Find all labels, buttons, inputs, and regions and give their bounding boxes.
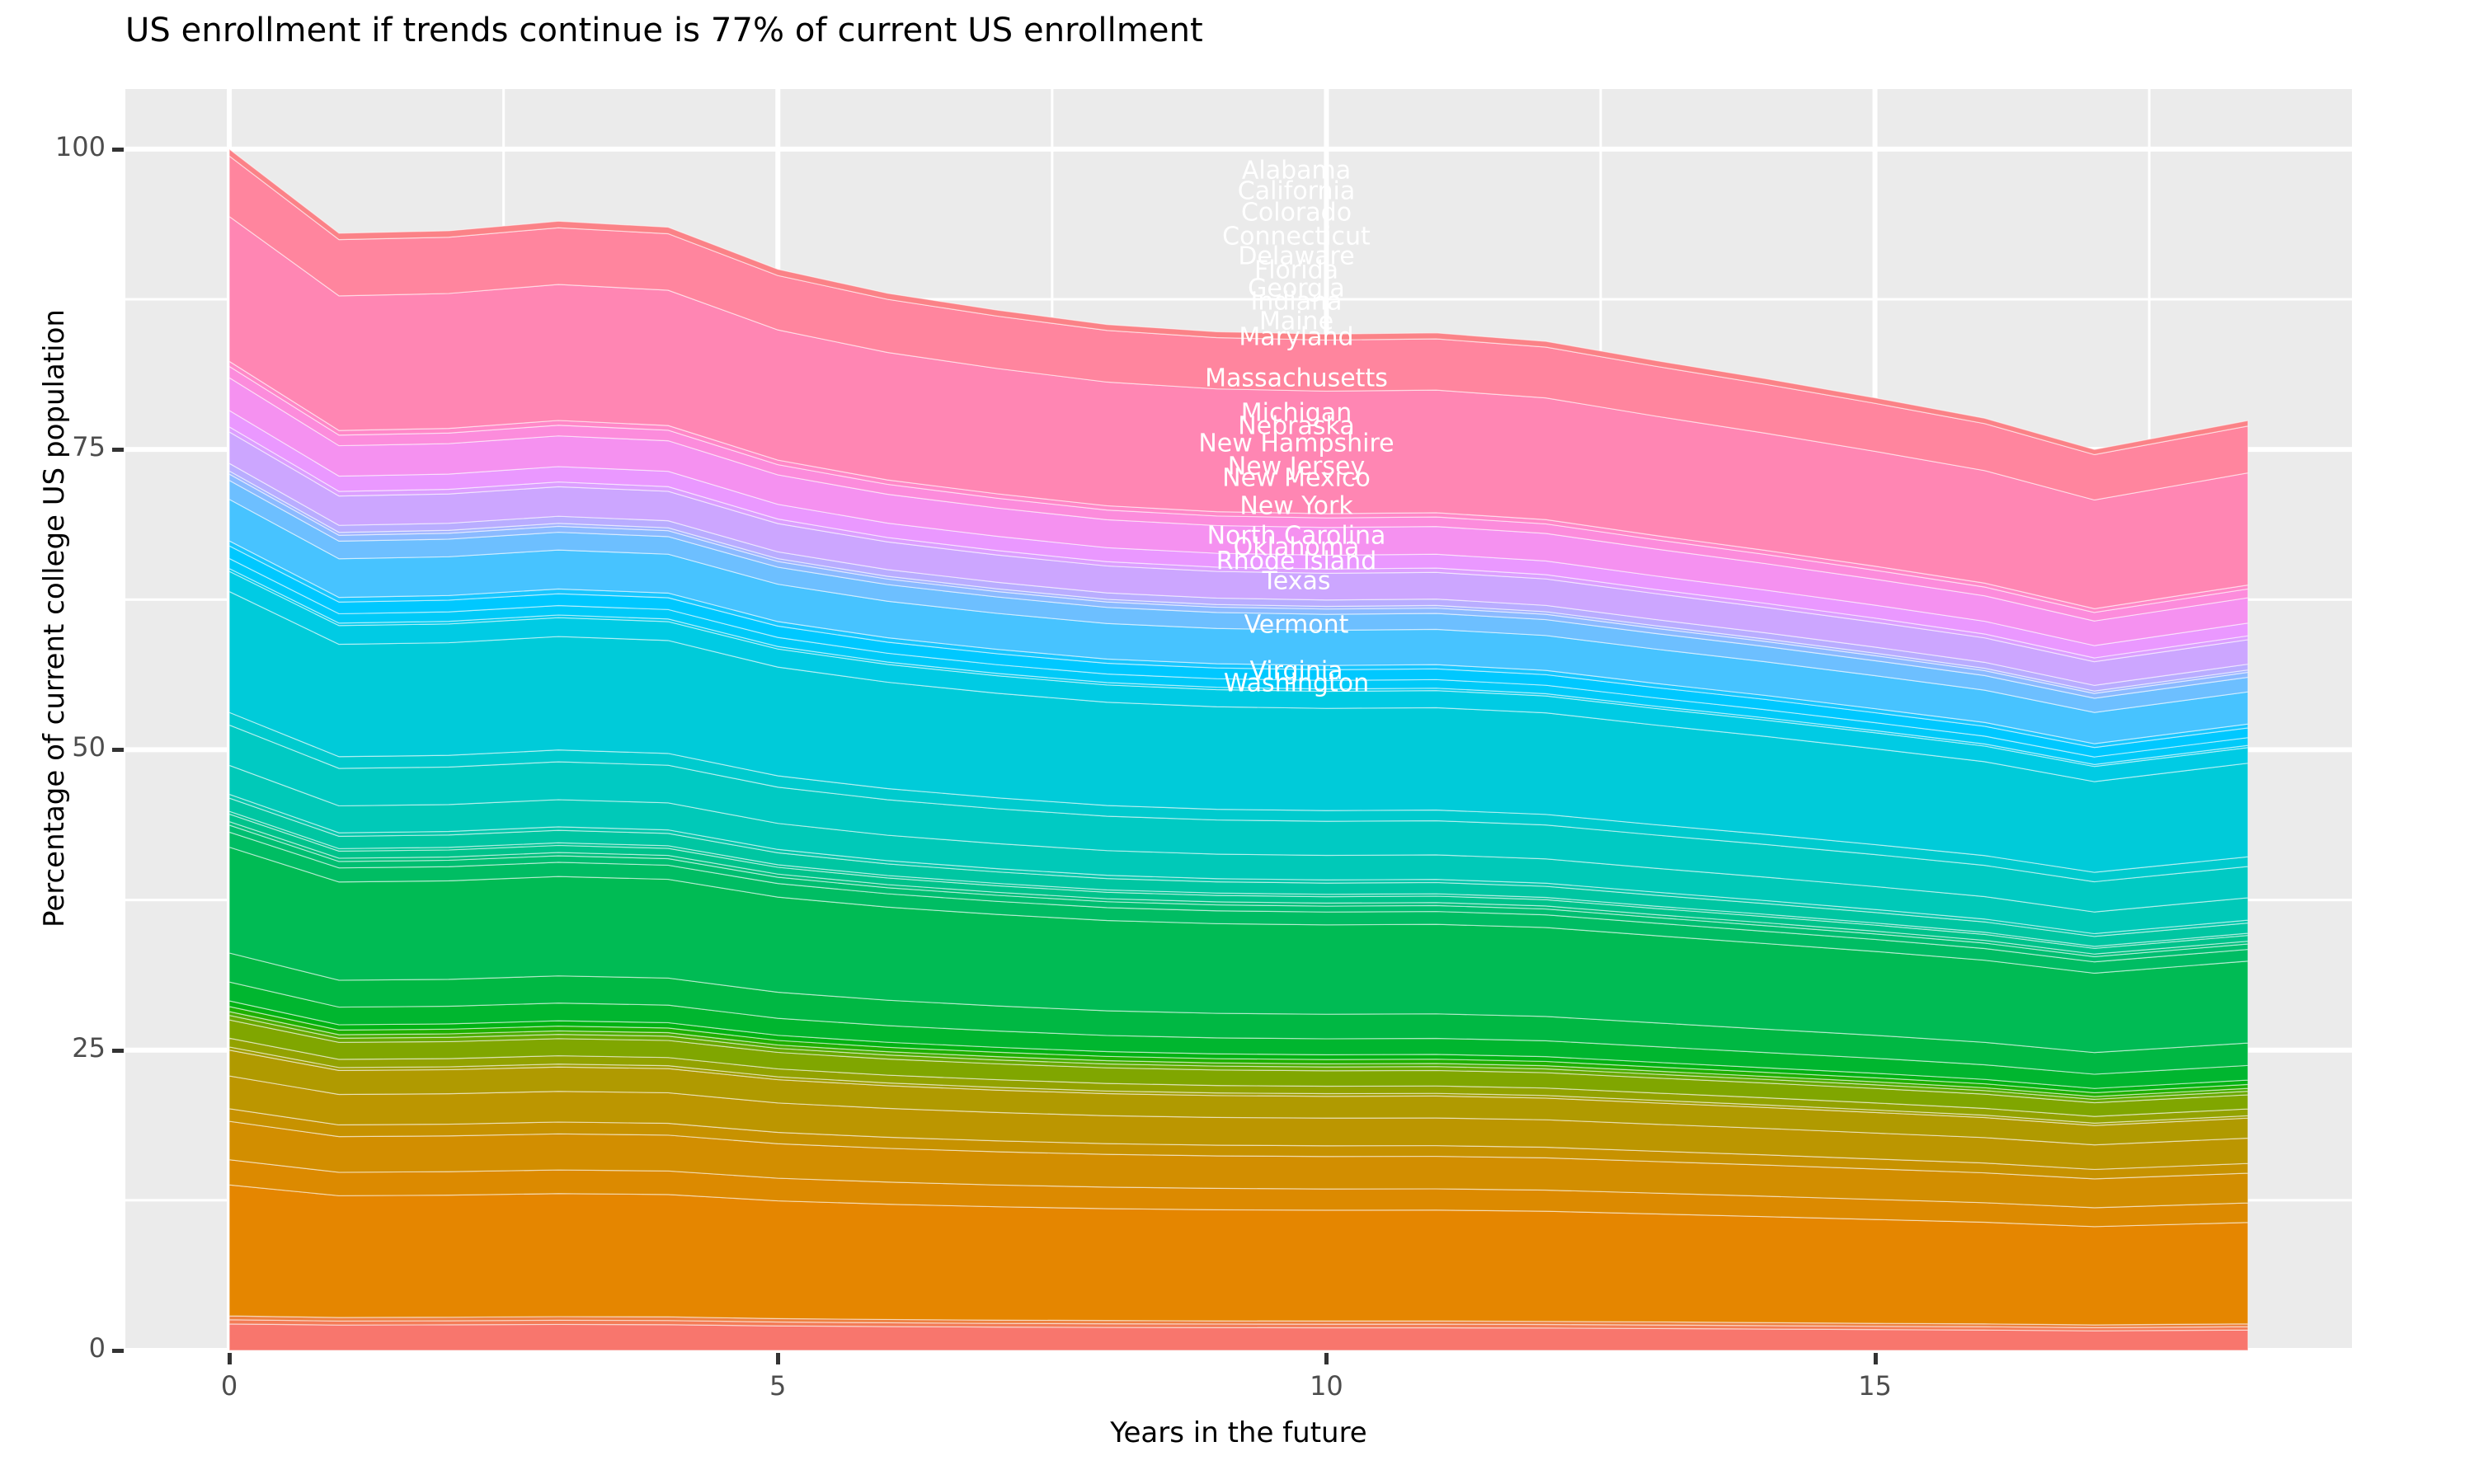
x-axis-tick-label: 5 <box>728 1370 827 1402</box>
series-inline-label: Washington <box>1224 669 1369 698</box>
y-axis-tick-mark <box>112 448 124 452</box>
y-axis-tick-mark <box>112 1349 124 1353</box>
series-inline-label: Vermont <box>1244 611 1349 640</box>
x-axis-title: Years in the future <box>125 1416 2352 1449</box>
y-axis-tick-label: 0 <box>89 1332 106 1364</box>
stacked-area-chart: AlabamaCaliforniaColoradoConnecticutDela… <box>125 89 2352 1350</box>
x-axis-tick-label: 10 <box>1277 1370 1376 1402</box>
chart-title: US enrollment if trends continue is 77% … <box>125 12 1203 49</box>
y-axis-tick-label: 75 <box>72 431 106 463</box>
y-axis-tick-mark <box>112 1049 124 1053</box>
x-axis-tick-mark <box>1874 1353 1878 1364</box>
series-inline-label: Maryland <box>1239 323 1353 352</box>
plot-panel: AlabamaCaliforniaColoradoConnecticutDela… <box>125 89 2352 1350</box>
x-axis-tick-mark <box>228 1353 232 1364</box>
series-inline-label: New Mexico <box>1222 464 1371 493</box>
x-axis-tick-mark <box>776 1353 780 1364</box>
x-axis-tick-label: 15 <box>1826 1370 1925 1402</box>
series-inline-label: New York <box>1239 492 1353 521</box>
y-axis-title: Percentage of current college US populat… <box>38 0 87 1360</box>
y-axis-tick-label: 25 <box>72 1032 106 1064</box>
chart-root: US enrollment if trends continue is 77% … <box>0 0 2474 1484</box>
y-axis-tick-mark <box>112 148 124 152</box>
series-inline-label: Texas <box>1262 567 1331 596</box>
x-axis-tick-mark <box>1324 1353 1329 1364</box>
y-axis-tick-label: 50 <box>72 731 106 763</box>
x-axis-tick-label: 0 <box>180 1370 279 1402</box>
y-axis-tick-label: 100 <box>55 131 106 162</box>
series-inline-label: Massachusetts <box>1205 364 1388 393</box>
y-axis-tick-mark <box>112 748 124 752</box>
